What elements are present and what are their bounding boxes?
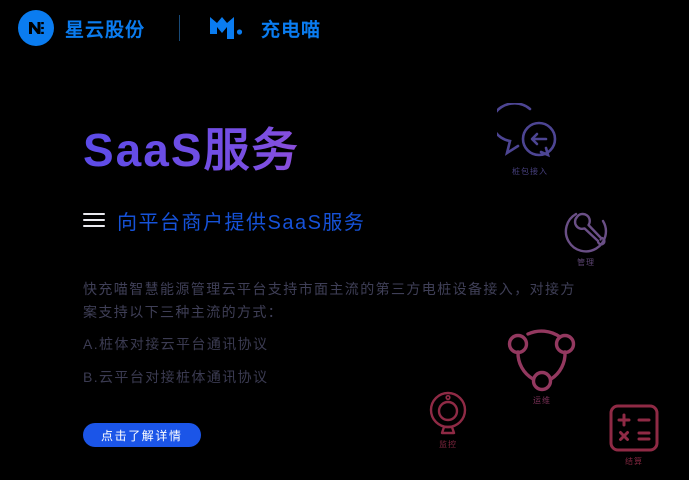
- brand-primary[interactable]: 星云股份: [18, 10, 145, 46]
- body-paragraph-1: 快充喵智慧能源管理云平台支持市面主流的第三方电桩设备接入，对接方案支持以下三种主…: [83, 278, 583, 323]
- hero-subtitle-row: 向平台商户提供SaaS服务: [83, 206, 603, 235]
- cat-plug-icon: [208, 15, 252, 41]
- deco-billing: 结算: [608, 403, 660, 467]
- brand-primary-name: 星云股份: [65, 15, 145, 42]
- body-paragraph-3: B.云平台对接桩体通讯协议: [83, 366, 583, 389]
- body-paragraph-2: A.桩体对接云平台通讯协议: [83, 333, 583, 356]
- body-copy: 快充喵智慧能源管理云平台支持市面主流的第三方电桩设备接入，对接方案支持以下三种主…: [83, 278, 583, 399]
- deco-monitor-label: 监控: [439, 439, 457, 450]
- hero-subtitle: 向平台商户提供SaaS服务: [117, 206, 365, 235]
- menu-lines-icon: [83, 213, 105, 227]
- nebula-logo-icon: [18, 10, 54, 46]
- deco-monitor: 监控: [426, 390, 470, 450]
- page-header: 星云股份 充电喵: [0, 0, 689, 56]
- calculator-icon: [608, 403, 660, 453]
- deco-billing-label: 结算: [625, 456, 643, 467]
- brand-secondary-name: 充电喵: [261, 15, 321, 42]
- header-divider: [179, 15, 180, 41]
- deco-manage-label: 管理: [577, 257, 595, 268]
- page-title: SaaS服务: [83, 126, 603, 176]
- learn-more-button[interactable]: 点击了解详情: [83, 423, 201, 447]
- hero-section: SaaS服务 向平台商户提供SaaS服务: [83, 126, 603, 235]
- brand-secondary[interactable]: 充电喵: [208, 15, 321, 42]
